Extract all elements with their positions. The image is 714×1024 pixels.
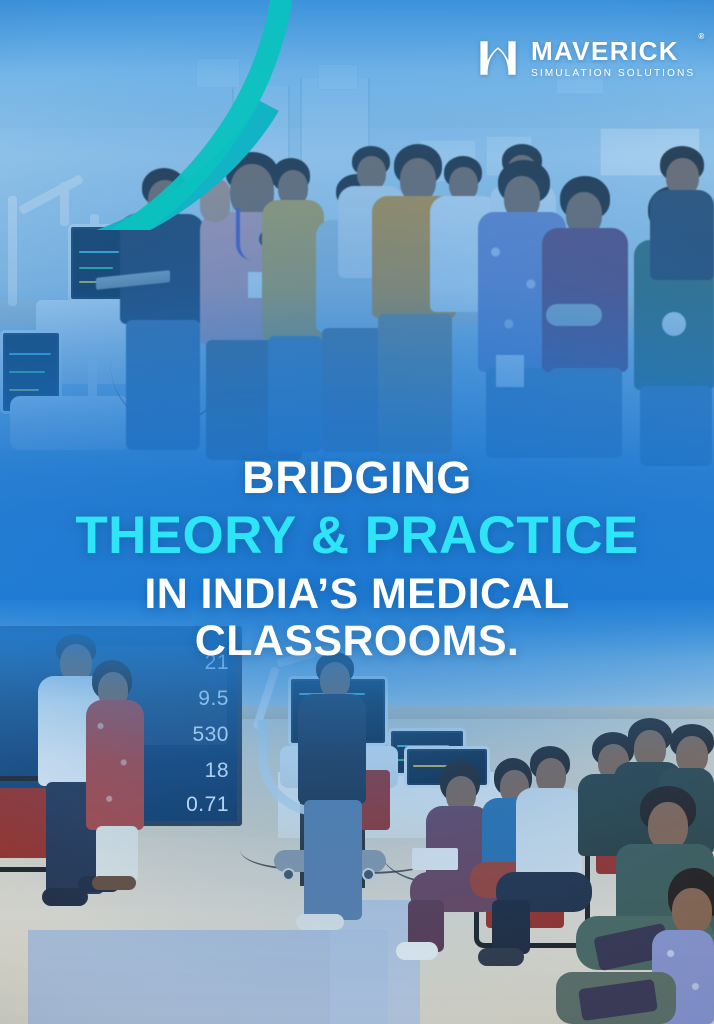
headline-line-1: BRIDGING: [0, 455, 714, 500]
poster: 21 9.5 530 18 0.71: [0, 0, 714, 1024]
headline-block: BRIDGING THEORY & PRACTICE IN INDIA’S ME…: [0, 455, 714, 663]
registered-icon: ®: [698, 32, 704, 41]
headline-line-4: CLASSROOMS.: [0, 620, 714, 663]
brand-wordmark: MAVERICK ® SIMULATION SOLUTIONS: [531, 36, 695, 79]
headline-line-3: IN INDIA’S MEDICAL: [0, 573, 714, 616]
maverick-butterfly-mark: [478, 38, 518, 78]
brand-tagline: SIMULATION SOLUTIONS: [531, 69, 695, 79]
brand-name: MAVERICK: [531, 38, 695, 64]
headline-line-2: THEORY & PRACTICE: [0, 509, 714, 562]
brand-logo[interactable]: MAVERICK ® SIMULATION SOLUTIONS: [478, 36, 695, 79]
